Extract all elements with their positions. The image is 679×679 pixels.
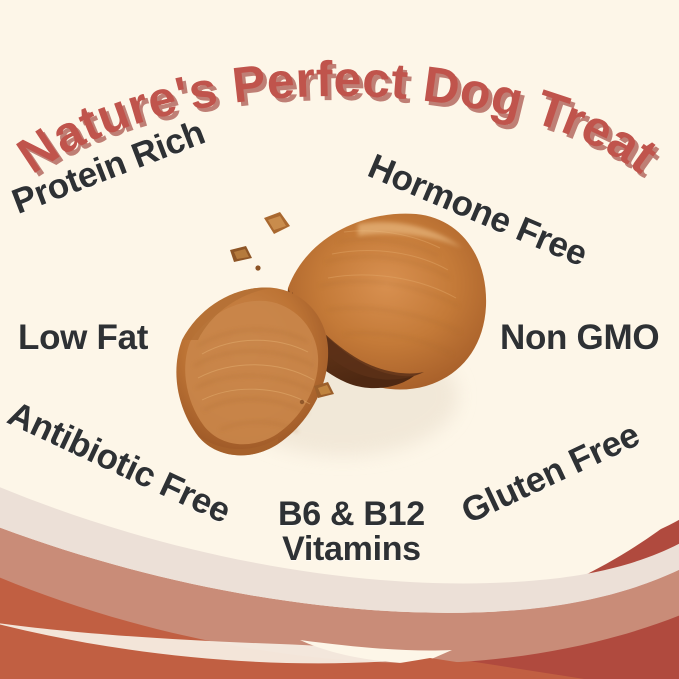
dog-treat-product-image	[168, 196, 498, 486]
feature-label-b-vitamins-line2: Vitamins	[278, 532, 425, 567]
band-pale-sliver-right	[300, 640, 452, 664]
band-brick-red	[388, 479, 679, 679]
band-arrow-tip	[300, 658, 540, 679]
feature-label-non-gmo: Non GMO	[500, 320, 659, 356]
feature-label-low-fat: Low Fat	[18, 320, 148, 356]
band-pale-sliver	[0, 622, 430, 663]
feature-label-b-vitamins-line1: B6 & B12	[278, 497, 425, 532]
product-feature-poster: Nature's Perfect Dog Treat Nature's Perf…	[0, 0, 679, 679]
feature-label-b-vitamins: B6 & B12 Vitamins	[278, 497, 425, 567]
